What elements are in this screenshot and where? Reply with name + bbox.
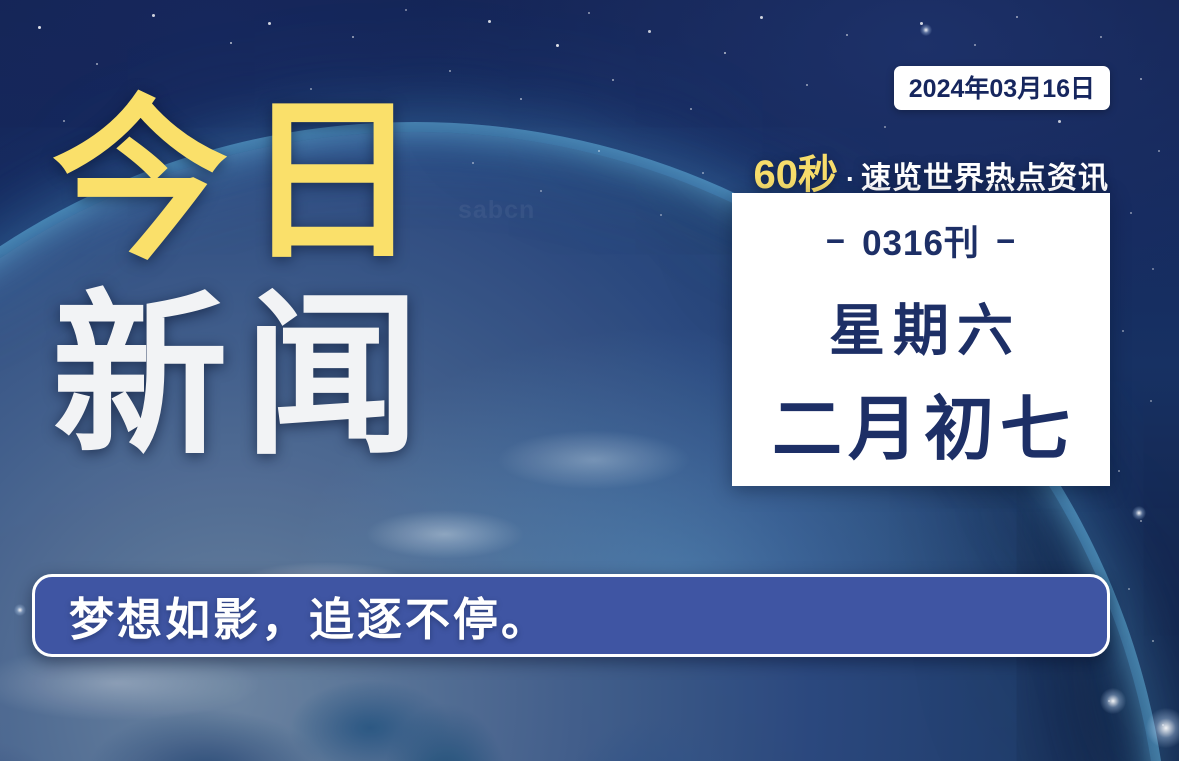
issue-number: 0316刊	[862, 215, 980, 266]
quote-banner: 梦想如影，追逐不停。	[32, 574, 1110, 657]
tagline-highlight: 60秒	[754, 142, 839, 200]
watermark-text: sabcn	[458, 196, 535, 225]
info-card: − 0316刊 − 星期六 二月初七	[732, 193, 1110, 486]
quote-text: 梦想如影，追逐不停。	[69, 583, 549, 648]
poster-root: sabcn 今日 新闻 2024年03月16日 60秒 · 速览世界热点资讯 −…	[0, 0, 1179, 761]
headline-line-1: 今日	[52, 98, 436, 267]
tagline-separator: ·	[846, 164, 855, 195]
dash-right-icon: −	[996, 224, 1016, 257]
weekday-label: 星期六	[821, 286, 1021, 367]
date-badge: 2024年03月16日	[894, 66, 1110, 110]
lunar-date-label: 二月初七	[766, 373, 1076, 474]
tagline: 60秒 · 速览世界热点资讯	[754, 142, 1110, 200]
dash-left-icon: −	[826, 224, 846, 257]
tagline-rest: 速览世界热点资讯	[861, 153, 1109, 197]
headline: 今日 新闻	[52, 98, 436, 462]
headline-line-2: 新闻	[52, 293, 436, 462]
issue-row: − 0316刊 −	[826, 215, 1016, 266]
